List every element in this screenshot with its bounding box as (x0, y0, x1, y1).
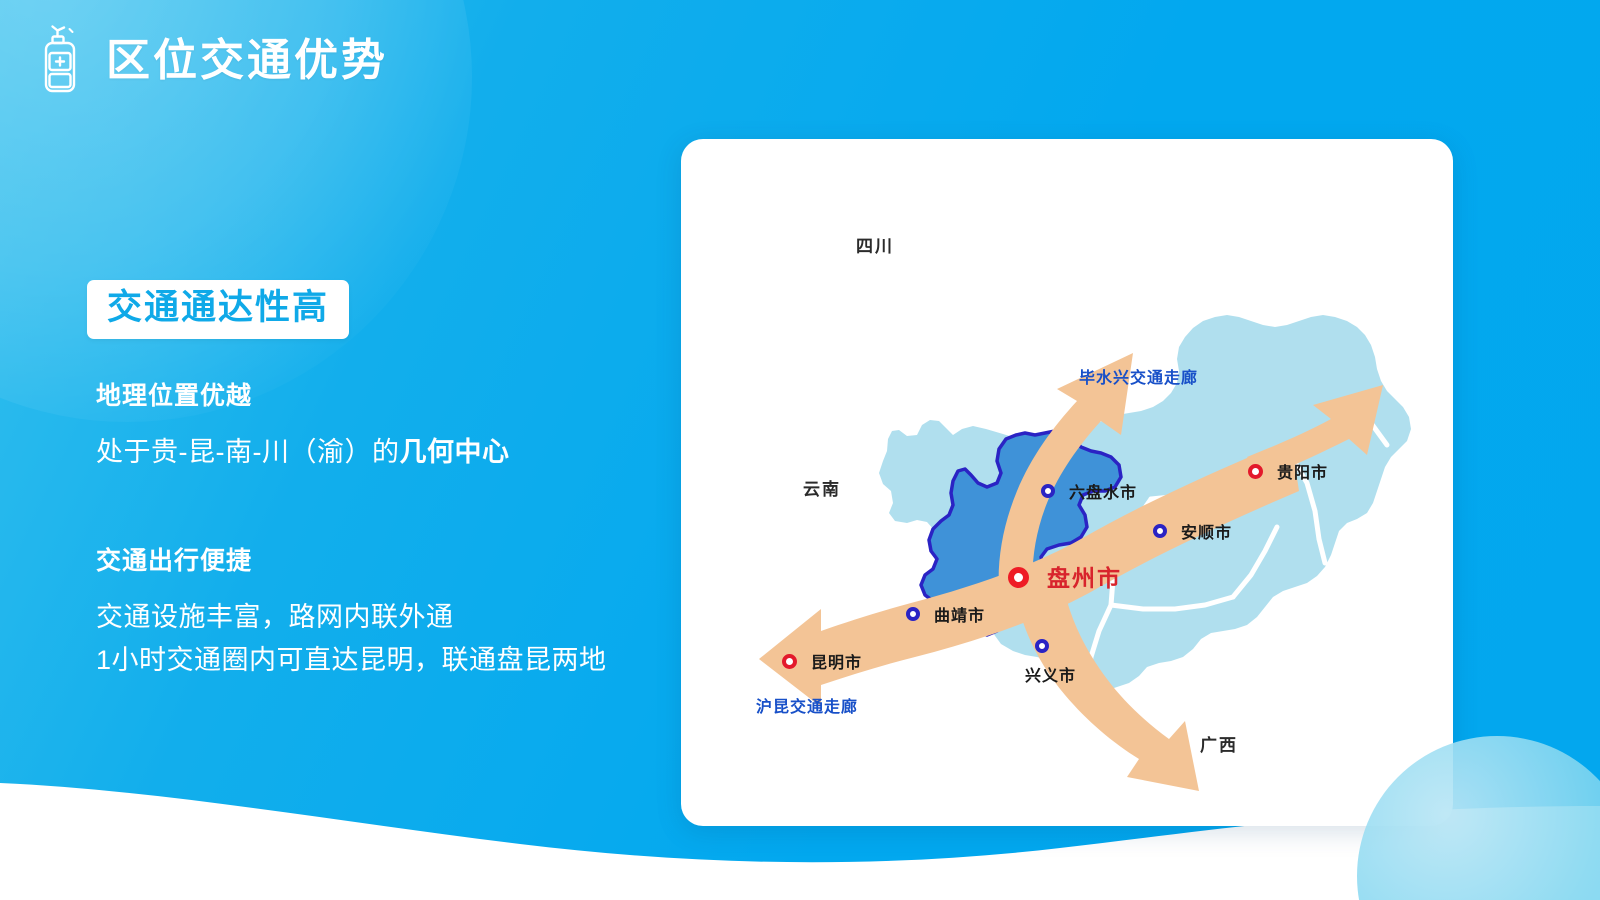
corridor-label-hukun: 沪昆交通走廊 (756, 693, 858, 717)
city-label-panzhou: 盘州市 (1047, 559, 1122, 593)
city-marker-kunming[interactable] (782, 654, 797, 669)
content-block-transport: 交通出行便捷 交通设施丰富，路网内联外通 1小时交通圈内可直达昆明，联通盘昆两地 (96, 548, 607, 682)
city-label-liupanshui: 六盘水市 (1069, 479, 1137, 503)
map-card[interactable]: 四川 云南 广西 毕水兴交通走廊 沪昆交通走廊 六盘水市 安顺市 贵阳市 盘州市… (681, 139, 1453, 826)
city-marker-xingyi[interactable] (1035, 639, 1049, 653)
sanitizer-bottle-icon (38, 22, 88, 100)
city-marker-liupanshui[interactable] (1041, 484, 1055, 498)
province-label-sichuan: 四川 (856, 232, 894, 257)
city-label-guiyang: 贵阳市 (1277, 459, 1328, 483)
city-marker-guiyang[interactable] (1248, 464, 1263, 479)
block-line: 交通设施丰富，路网内联外通 (96, 596, 607, 639)
city-label-qujing: 曲靖市 (934, 602, 985, 626)
city-marker-anshun[interactable] (1153, 524, 1167, 538)
block-line: 1小时交通圈内可直达昆明，联通盘昆两地 (96, 639, 607, 682)
page-title: 区位交通优势 (106, 39, 388, 83)
block-line: 处于贵-昆-南-川（渝）的几何中心 (96, 431, 509, 474)
province-label-guangxi: 广西 (1200, 731, 1238, 756)
province-label-yunnan: 云南 (803, 475, 841, 500)
city-marker-qujing[interactable] (906, 607, 920, 621)
city-marker-panzhou[interactable] (1008, 567, 1029, 588)
map-graphic (681, 139, 1453, 826)
content-block-geography: 地理位置优越 处于贵-昆-南-川（渝）的几何中心 (96, 383, 509, 474)
status-badge: 交通通达性高 (87, 280, 349, 339)
slide-root: 区位交通优势 交通通达性高 地理位置优越 处于贵-昆-南-川（渝）的几何中心 交… (0, 0, 1600, 900)
corridor-label-bishuixing: 毕水兴交通走廊 (1079, 364, 1198, 388)
city-label-kunming: 昆明市 (811, 649, 862, 673)
block-heading: 交通出行便捷 (96, 548, 607, 576)
city-label-xingyi: 兴义市 (1025, 662, 1076, 686)
city-label-anshun: 安顺市 (1181, 519, 1232, 543)
block-heading: 地理位置优越 (96, 383, 509, 411)
header: 区位交通优势 (38, 22, 388, 100)
